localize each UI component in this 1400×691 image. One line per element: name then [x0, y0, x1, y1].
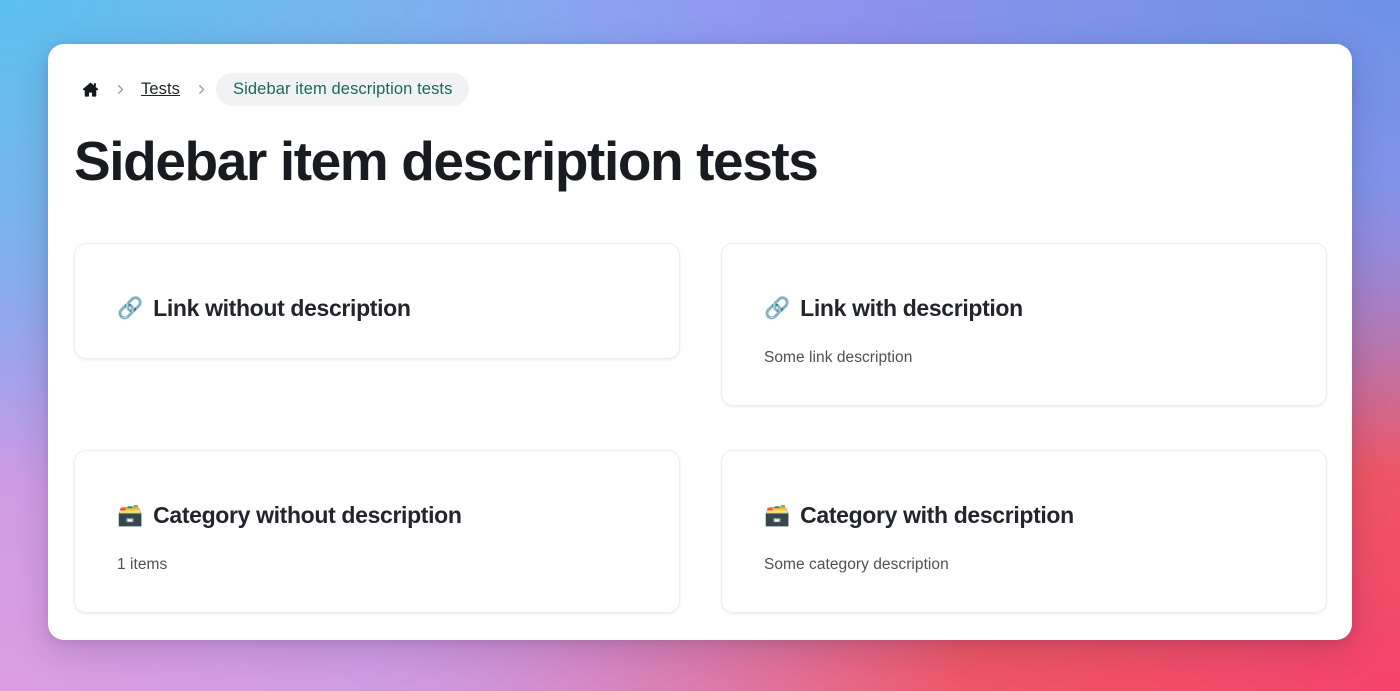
card-title: Link with description [800, 295, 1023, 322]
card-title: Category without description [153, 502, 461, 529]
card-link-without-description[interactable]: 🔗 Link without description [74, 243, 680, 359]
breadcrumb-current-badge: Sidebar item description tests [216, 73, 469, 106]
card-header: 🔗 Link without description [117, 295, 637, 322]
card-title: Category with description [800, 502, 1074, 529]
home-icon[interactable] [75, 74, 105, 104]
card-header: 🗃️ Category without description [117, 502, 637, 529]
page-title: Sidebar item description tests [74, 132, 818, 191]
card-file-box-emoji-icon: 🗃️ [764, 505, 790, 526]
link-emoji-icon: 🔗 [117, 298, 143, 319]
card-title: Link without description [153, 295, 410, 322]
chevron-right-icon [105, 74, 135, 104]
card-file-box-emoji-icon: 🗃️ [117, 505, 143, 526]
breadcrumb: Tests Sidebar item description tests [75, 72, 469, 106]
link-emoji-icon: 🔗 [764, 298, 790, 319]
card-item-count: 1 items [117, 556, 637, 574]
card-category-with-description[interactable]: 🗃️ Category with description Some catego… [721, 450, 1327, 613]
card-description: Some link description [764, 349, 1284, 367]
card-category-without-description[interactable]: 🗃️ Category without description 1 items [74, 450, 680, 613]
breadcrumb-item-tests[interactable]: Tests [135, 80, 186, 99]
page-panel: Tests Sidebar item description tests Sid… [48, 44, 1352, 640]
card-grid: 🔗 Link without description 🔗 Link with d… [74, 243, 1327, 613]
card-description: Some category description [764, 556, 1284, 574]
card-link-with-description[interactable]: 🔗 Link with description Some link descri… [721, 243, 1327, 406]
card-header: 🗃️ Category with description [764, 502, 1284, 529]
card-header: 🔗 Link with description [764, 295, 1284, 322]
chevron-right-icon [186, 74, 216, 104]
